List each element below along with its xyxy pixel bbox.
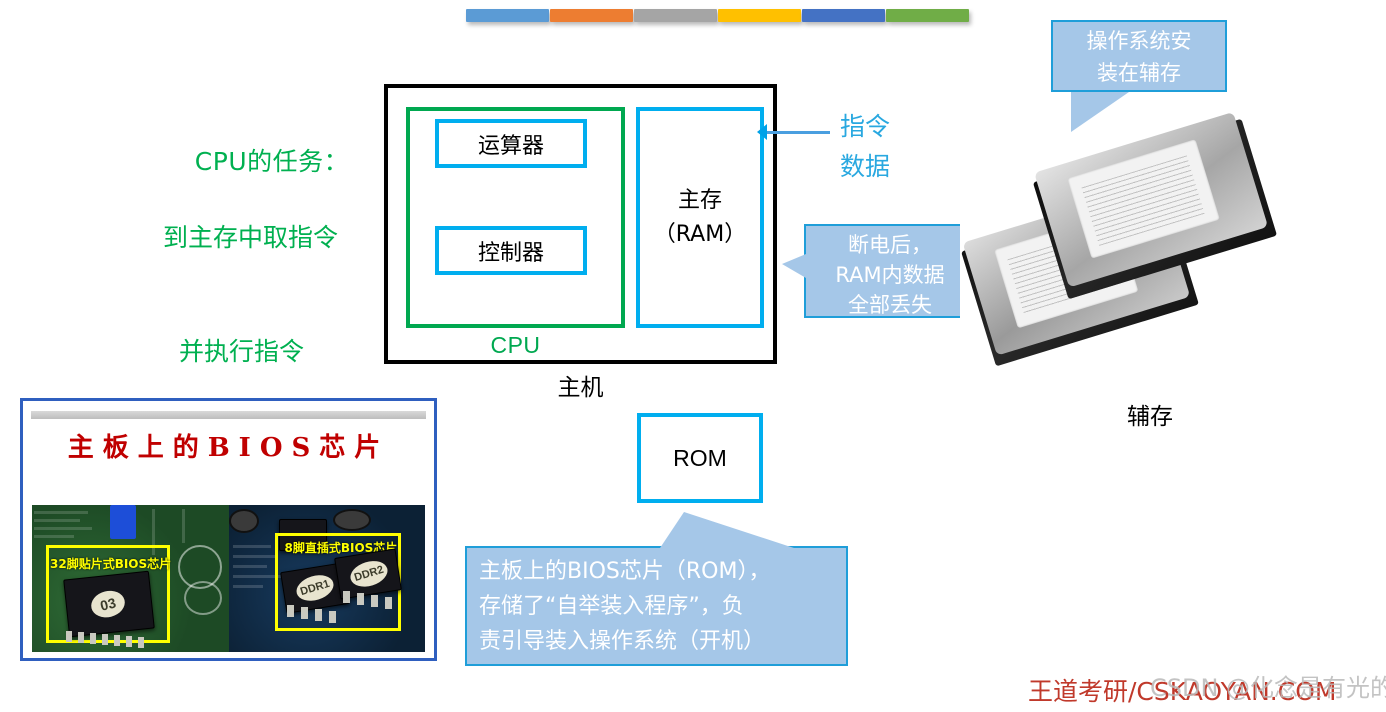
pcb-silkscreen-ring — [184, 581, 222, 615]
chip-pin — [301, 607, 308, 619]
pcb-trace — [233, 575, 281, 578]
chip-pin — [138, 637, 144, 648]
cpu-task-note: CPU的任务： 到主存中取指令 并执行指令 — [163, 105, 349, 447]
card-top-stripe — [31, 411, 426, 419]
pcb-trace — [34, 519, 80, 522]
bios-photo-right: 8脚直插式BIOS芯片 DDR1 DDR2 — [229, 505, 426, 652]
chip-pin — [329, 611, 336, 623]
callout-bios-line-1: 主板上的BIOS芯片（ROM）， — [479, 554, 846, 589]
bios-photo-left: 32脚贴片式BIOS芯片 03 — [32, 505, 229, 652]
chip-pin — [371, 595, 378, 607]
top-bar-gray — [634, 9, 717, 22]
bus-arrow-line — [764, 131, 830, 134]
chip-pin — [102, 634, 108, 645]
pcb-capacitor — [229, 509, 259, 533]
pcb-trace — [34, 535, 74, 538]
pcb-trace — [233, 555, 277, 558]
rom-box: ROM — [637, 413, 763, 503]
pcb-capacitor — [333, 509, 371, 531]
pcb-trace — [233, 565, 267, 568]
top-bar-green — [886, 9, 969, 22]
chip-pin — [385, 597, 392, 609]
top-bar-yellow — [718, 9, 801, 22]
bus-label-data: 数据 — [840, 146, 890, 188]
bus-label-instruction: 指令 — [840, 106, 890, 148]
callout-ram-line-3: 全部丢失 — [806, 290, 974, 320]
bios-card-title: 主板上的BIOS芯片 — [23, 427, 434, 464]
chip-pin — [287, 605, 294, 617]
chip-pin — [357, 593, 364, 605]
pcb-trace — [34, 511, 88, 514]
callout-bios-line-3: 责引导装入操作系统（开机） — [479, 624, 846, 659]
callout-os-location: 操作系统安 装在辅存 — [1051, 20, 1227, 92]
main-memory-line-1: 主存 — [678, 184, 722, 218]
alu-box: 运算器 — [435, 119, 587, 168]
bios-photo-pair: 32脚贴片式BIOS芯片 03 — [32, 505, 425, 652]
callout-ram-line-1: 断电后， — [806, 230, 974, 260]
top-bar-indigo — [802, 9, 885, 22]
callout-ram-volatility: 断电后， RAM内数据 全部丢失 — [804, 224, 976, 318]
chip-pin — [78, 632, 84, 643]
main-memory-line-2: （RAM） — [654, 218, 746, 252]
cpu-task-line-1: CPU的任务： — [195, 147, 349, 176]
slide-canvas: CPU的任务： 到主存中取指令 并执行指令 运算器 控制器 CPU 主存 （RA… — [0, 0, 1386, 712]
main-memory-box: 主存 （RAM） — [636, 107, 764, 328]
bios-chip-card: 主板上的BIOS芯片 32脚贴片式BIOS芯片 03 — [20, 398, 437, 661]
chip-pin — [66, 631, 72, 642]
callout-ram-line-2: RAM内数据 — [806, 260, 974, 290]
hard-drive-photo — [960, 152, 1290, 382]
host-box: 运算器 控制器 CPU 主存 （RAM） — [384, 84, 777, 364]
cpu-label: CPU — [406, 332, 625, 359]
callout-tail-icon — [782, 254, 806, 278]
bios-chip-marking-left: 03 — [88, 587, 127, 620]
cpu-task-line-3: 并执行指令 — [163, 333, 349, 371]
csdn-watermark: CSDN @化念是有光的 — [1150, 668, 1386, 703]
chip-pin — [315, 609, 322, 621]
top-bar-blue — [466, 9, 549, 22]
hard-drive-back — [1033, 119, 1277, 299]
callout-bios-line-2: 存储了“自举装入程序”，负 — [479, 589, 846, 624]
cpu-task-line-2: 到主存中取指令 — [163, 219, 349, 257]
host-label: 主机 — [384, 368, 777, 402]
bios-chip-marking-ddr1: DDR1 — [293, 571, 336, 605]
secondary-storage-label: 辅存 — [1080, 397, 1220, 431]
bios-chip-plcc: 03 — [63, 571, 155, 638]
chip-pin — [114, 635, 120, 646]
pcb-trace — [34, 527, 92, 530]
bios-annotation-left: 32脚贴片式BIOS芯片 — [50, 555, 171, 572]
pcb-trace — [182, 509, 185, 543]
bios-chip-marking-ddr2: DDR2 — [347, 557, 390, 591]
top-bar-orange — [550, 9, 633, 22]
chip-pin — [90, 633, 96, 644]
callout-os-line-1: 操作系统安 — [1053, 25, 1225, 57]
callout-bios-rom: 主板上的BIOS芯片（ROM）， 存储了“自举装入程序”，负 责引导装入操作系统… — [465, 546, 848, 666]
pcb-connector — [110, 505, 136, 539]
bus-arrow-head-icon — [757, 124, 767, 140]
callout-tail-icon — [1071, 92, 1129, 132]
pcb-trace — [233, 545, 271, 548]
pcb-trace — [233, 585, 263, 588]
chip-pin — [126, 636, 132, 647]
callout-tail-icon — [660, 512, 794, 548]
control-unit-box: 控制器 — [435, 226, 587, 275]
chip-pin — [343, 591, 350, 603]
callout-os-line-2: 装在辅存 — [1053, 57, 1225, 89]
